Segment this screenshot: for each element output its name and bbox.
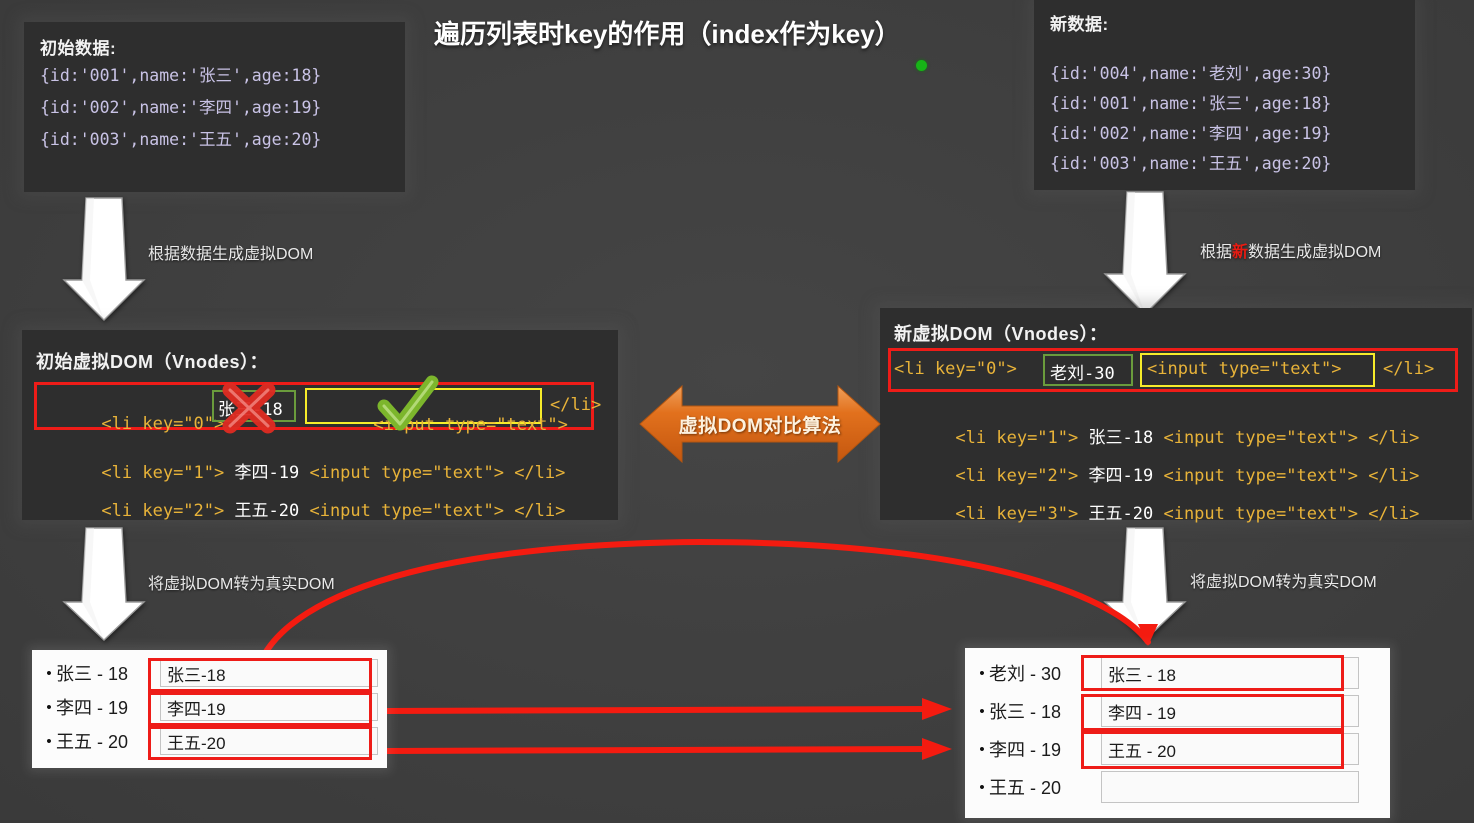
old-vdom-close: </li> [550, 395, 601, 415]
old-input-highlight [148, 692, 372, 726]
old-vdom-header: 初始虚拟DOM（Vnodes）： [36, 348, 268, 374]
new-data-header: 新数据: [1050, 10, 1109, 35]
new-data-panel: 新数据: {id:'004',name:'老刘',age:30} {id:'00… [1034, 0, 1415, 190]
label-suffix: 数据生成虚拟DOM [1248, 244, 1381, 261]
initial-data-line: {id:'003',name:'王五',age:20} [40, 126, 321, 150]
initial-data-line: {id:'001',name:'张三',age:18} [40, 62, 321, 86]
bullet-dot-icon: • [42, 666, 56, 681]
new-real-dom-input[interactable] [1101, 771, 1359, 803]
cross-mark-icon [218, 380, 280, 440]
initial-data-panel: 初始数据: {id:'001',name:'张三',age:18} {id:'0… [24, 22, 405, 192]
new-vdom-open: <li key="0"> [894, 359, 1017, 379]
vnode-name: 王五-20 [1089, 504, 1154, 524]
vnode-close-tag: </li> [1368, 504, 1419, 524]
label-to-real-dom-right: 将虚拟DOM转为真实DOM [1190, 568, 1377, 592]
new-vdom-close: </li> [1383, 359, 1434, 379]
arrow-down-to-real-dom-left [62, 528, 146, 645]
arrow-down-to-real-dom-right [1103, 528, 1187, 645]
bullet-dot-icon: • [42, 734, 56, 749]
page-title: 遍历列表时key的作用（index作为key） [434, 14, 901, 51]
diff-algorithm-label: 虚拟DOM对比算法 [640, 382, 880, 466]
label-prefix: 根据 [1200, 244, 1232, 261]
new-input-highlight [1081, 694, 1344, 731]
old-input-highlight [148, 726, 372, 760]
new-data-line: {id:'004',name:'老刘',age:30} [1050, 60, 1331, 84]
vnode-open-tag: <li key="2"> [101, 501, 224, 521]
vnode-input-tag: <input type="text"> [1163, 504, 1357, 524]
bullet-dot-icon: • [975, 742, 989, 757]
check-mark-icon [378, 378, 440, 436]
new-data-line: {id:'002',name:'李四',age:19} [1050, 120, 1331, 144]
new-data-line: {id:'001',name:'张三',age:18} [1050, 90, 1331, 114]
vnode-open-tag: <li key="3"> [955, 504, 1078, 524]
old-input-highlight [148, 658, 372, 692]
old-vdom-panel: 初始虚拟DOM（Vnodes）： <li key="0"> 张三-18 <inp… [22, 330, 618, 520]
new-vdom-input: <input type="text"> [1147, 359, 1341, 379]
bullet-dot-icon: • [975, 704, 989, 719]
red-straight-arrow-row3 [380, 735, 960, 763]
new-vdom-name: 老刘-30 [1050, 359, 1115, 384]
old-real-dom-label: 张三 - 18 [56, 660, 160, 686]
label-generate-vdom-left: 根据数据生成虚拟DOM [148, 240, 313, 264]
label-highlight-new: 新 [1232, 244, 1248, 261]
vnode-input-tag: <input type="text"> [309, 501, 503, 521]
old-real-dom-label: 王五 - 20 [56, 728, 160, 754]
initial-data-header: 初始数据: [40, 34, 116, 59]
green-dot-indicator [916, 60, 927, 71]
label-generate-vdom-right: 根据新数据生成虚拟DOM [1200, 238, 1381, 262]
new-real-dom-label: 王五 - 20 [989, 774, 1101, 800]
label-to-real-dom-left: 将虚拟DOM转为真实DOM [148, 570, 335, 594]
new-vdom-header: 新虚拟DOM（Vnodes）： [894, 320, 1108, 346]
list-item: • 王五 - 20 [975, 770, 1385, 804]
new-input-highlight [1081, 655, 1344, 691]
bullet-dot-icon: • [975, 780, 989, 795]
new-input-highlight [1081, 731, 1344, 769]
new-vdom-panel: 新虚拟DOM（Vnodes）： <li key="0"> 老刘-30 <inpu… [880, 308, 1472, 520]
red-straight-arrow-row2 [380, 695, 960, 723]
diff-algorithm-arrow: 虚拟DOM对比算法 [640, 382, 880, 466]
vnode-open-tag: <li key="0"> [101, 414, 224, 434]
initial-data-line: {id:'002',name:'李四',age:19} [40, 94, 321, 118]
vnode-close-tag: </li> [514, 501, 565, 521]
diagram-canvas: 遍历列表时key的作用（index作为key） 初始数据: {id:'001',… [0, 0, 1474, 823]
arrow-down-generate-vdom-right [1103, 192, 1187, 319]
new-data-line: {id:'003',name:'王五',age:20} [1050, 150, 1331, 174]
bullet-dot-icon: • [42, 700, 56, 715]
bullet-dot-icon: • [975, 666, 989, 681]
arrow-down-generate-vdom-left [62, 198, 146, 325]
vnode-name: 王五-20 [235, 501, 300, 521]
old-real-dom-label: 李四 - 19 [56, 694, 160, 720]
